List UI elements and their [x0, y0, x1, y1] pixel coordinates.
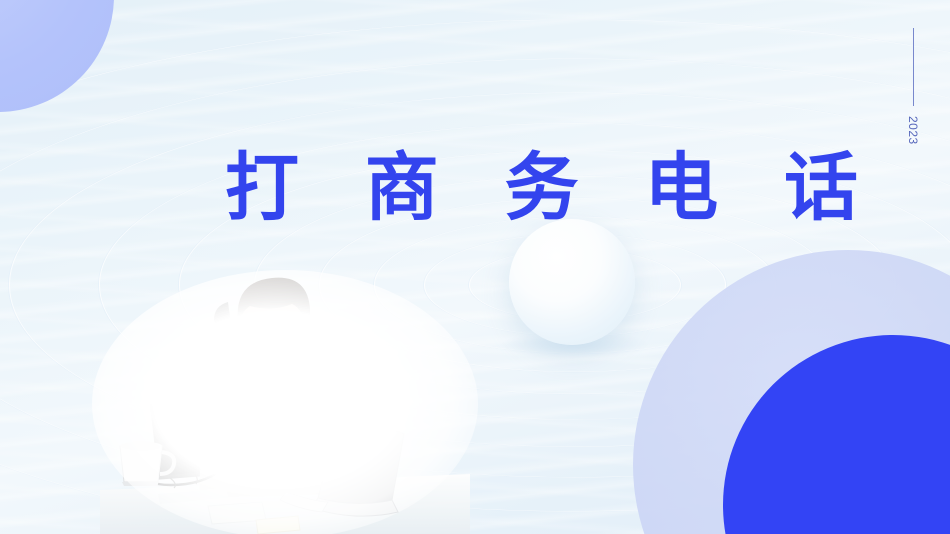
year-marker: 2023 [900, 28, 926, 145]
year-label: 2023 [906, 116, 920, 145]
hero-photo [100, 276, 470, 534]
presentation-title-slide: 打 商 务 电 话 2023 [0, 0, 950, 534]
topleft-decorative-circle [0, 0, 114, 112]
year-vertical-rule [913, 28, 914, 106]
center-glossy-sphere [509, 219, 635, 345]
page-title: 打 商 务 电 话 [205, 150, 745, 228]
photo-vignette [92, 270, 478, 534]
